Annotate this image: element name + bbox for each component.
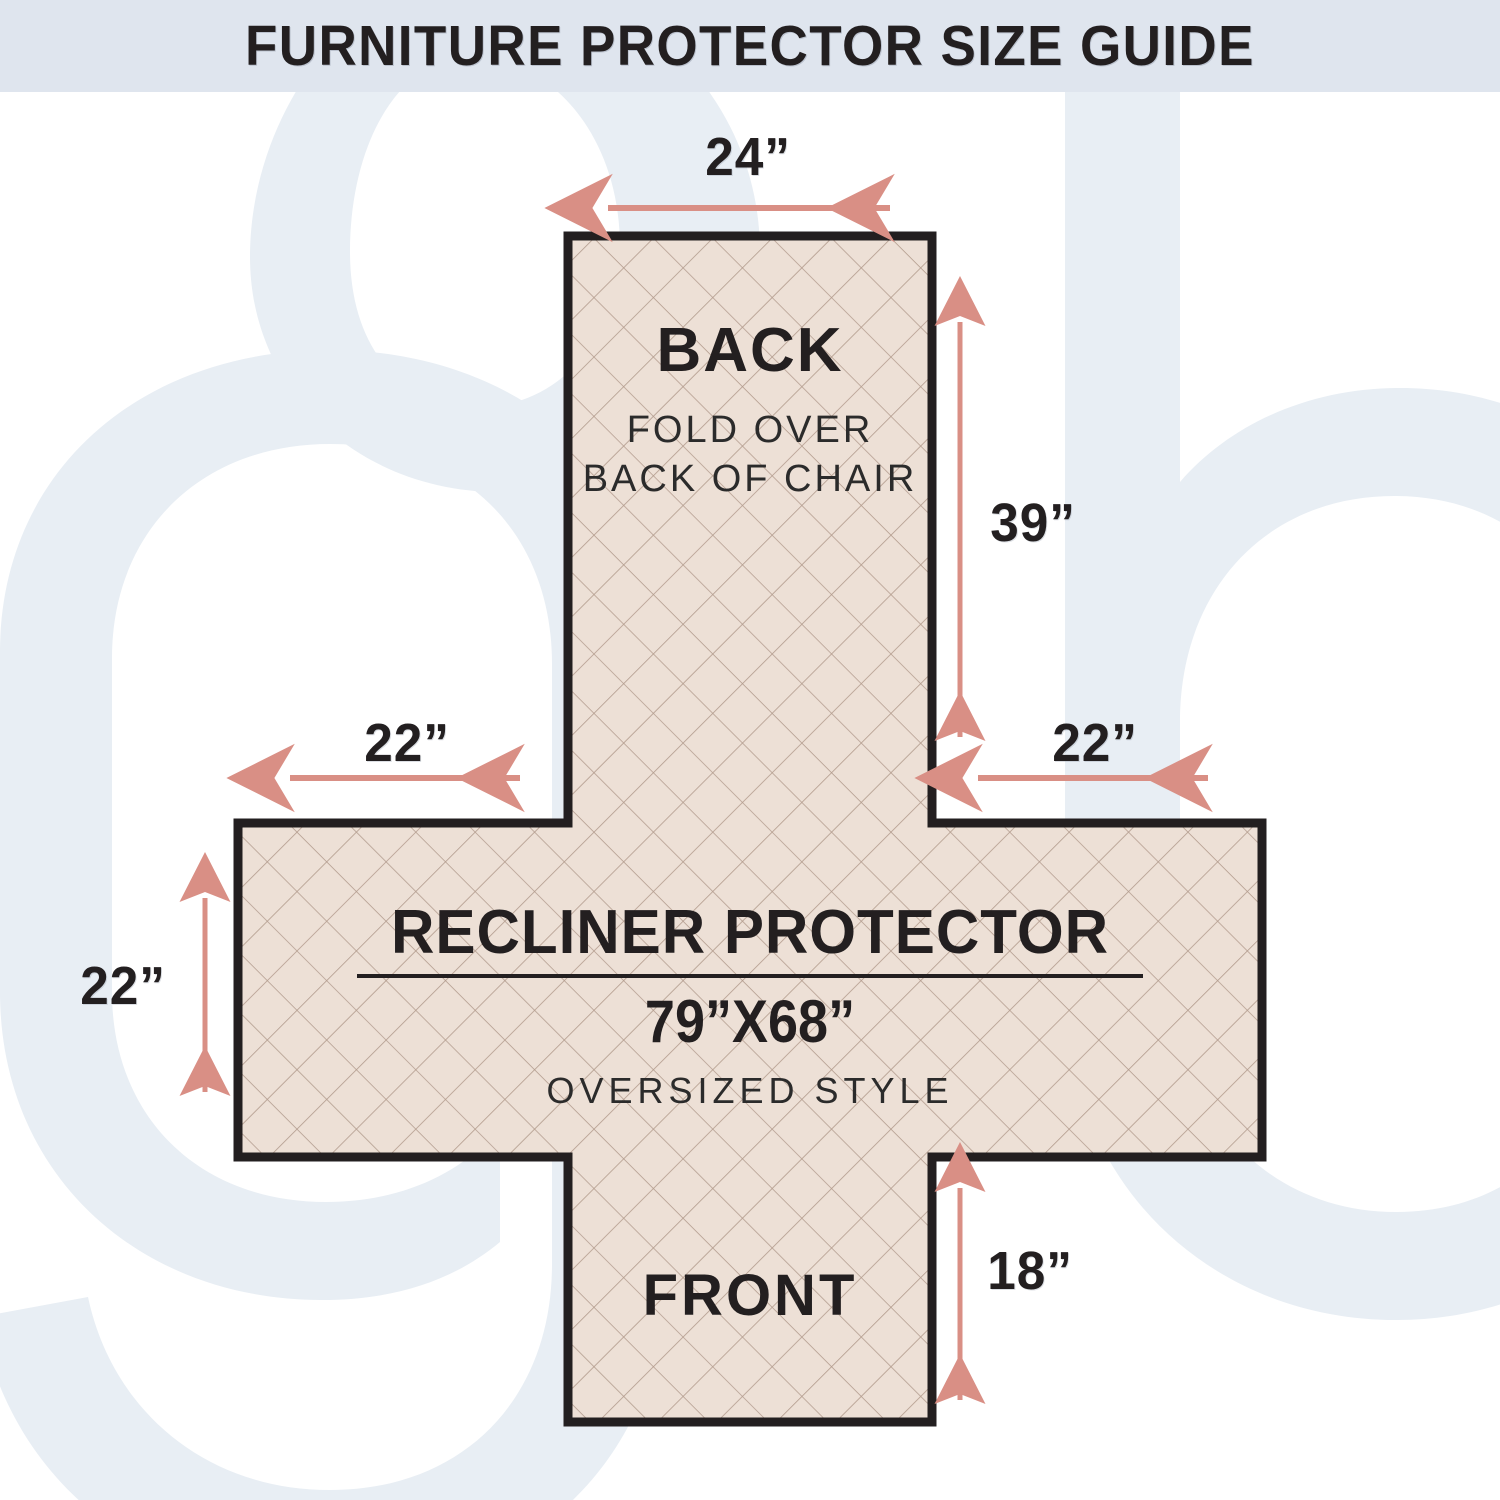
title-divider xyxy=(357,974,1143,978)
product-size: 79”X68” xyxy=(396,990,1103,1053)
dimension-label-right-arm: 22” xyxy=(1052,712,1138,774)
front-panel-label: FRONT xyxy=(568,1262,932,1329)
back-panel-subtext: FOLD OVER BACK OF CHAIR xyxy=(568,406,932,503)
back-panel-subtext-line2: BACK OF CHAIR xyxy=(568,455,932,504)
back-panel-subtext-line1: FOLD OVER xyxy=(568,406,932,455)
dimension-label-front-height: 18” xyxy=(987,1240,1073,1302)
dimension-label-top-width: 24” xyxy=(705,126,791,188)
size-guide-graphic: FURNITURE PROTECTOR SIZE GUIDE xyxy=(0,0,1500,1500)
center-panel-text-group: RECLINER PROTECTOR 79”X68” OVERSIZED STY… xyxy=(357,900,1143,1109)
back-panel-text-group: BACK FOLD OVER BACK OF CHAIR xyxy=(568,320,932,503)
back-panel-label: BACK xyxy=(568,320,932,382)
dimension-label-left-arm: 22” xyxy=(364,712,450,774)
dimension-label-side-height: 22” xyxy=(80,955,166,1017)
product-name: RECLINER PROTECTOR xyxy=(369,900,1131,965)
product-style: OVERSIZED STYLE xyxy=(357,1073,1143,1109)
dimension-label-back-height: 39” xyxy=(990,492,1076,554)
